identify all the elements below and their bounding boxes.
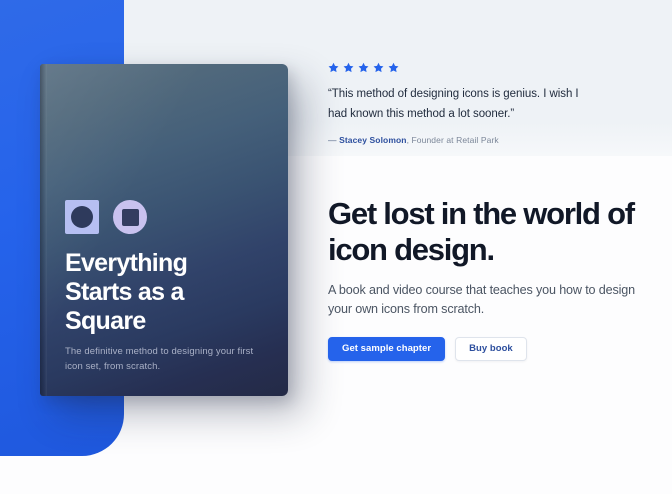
testimonial-attribution: — Stacey Solomon, Founder at Retail Park: [328, 135, 588, 145]
get-sample-chapter-button[interactable]: Get sample chapter: [328, 337, 445, 361]
hero-actions: Get sample chapter Buy book: [328, 337, 648, 361]
book-cover: Everything Starts as a Square The defini…: [40, 64, 288, 396]
book-title: Everything Starts as a Square: [65, 249, 245, 336]
attribution-role: , Founder at Retail Park: [407, 135, 499, 145]
book-cover-content: Everything Starts as a Square The defini…: [65, 64, 270, 396]
hero-title: Get lost in the world of icon design.: [328, 196, 648, 268]
hero-subtitle: A book and video course that teaches you…: [328, 281, 648, 319]
attribution-name: Stacey Solomon: [339, 135, 407, 145]
circle-with-square-icon: [113, 200, 147, 234]
testimonial: “This method of designing icons is geniu…: [328, 62, 588, 145]
attribution-dash: —: [328, 135, 339, 145]
book-subtitle: The definitive method to designing your …: [65, 344, 260, 375]
book-cover-icons: [65, 200, 147, 234]
star-icon: [328, 62, 339, 73]
star-icon: [343, 62, 354, 73]
landing-page: Everything Starts as a Square The defini…: [0, 0, 672, 494]
hero-section: Get lost in the world of icon design. A …: [328, 196, 648, 361]
buy-book-button[interactable]: Buy book: [455, 337, 527, 361]
star-icon: [388, 62, 399, 73]
star-rating: [328, 62, 588, 73]
square-with-circle-icon: [65, 200, 99, 234]
testimonial-quote: “This method of designing icons is geniu…: [328, 84, 588, 125]
book-spine: [40, 64, 47, 396]
star-icon: [358, 62, 369, 73]
star-icon: [373, 62, 384, 73]
